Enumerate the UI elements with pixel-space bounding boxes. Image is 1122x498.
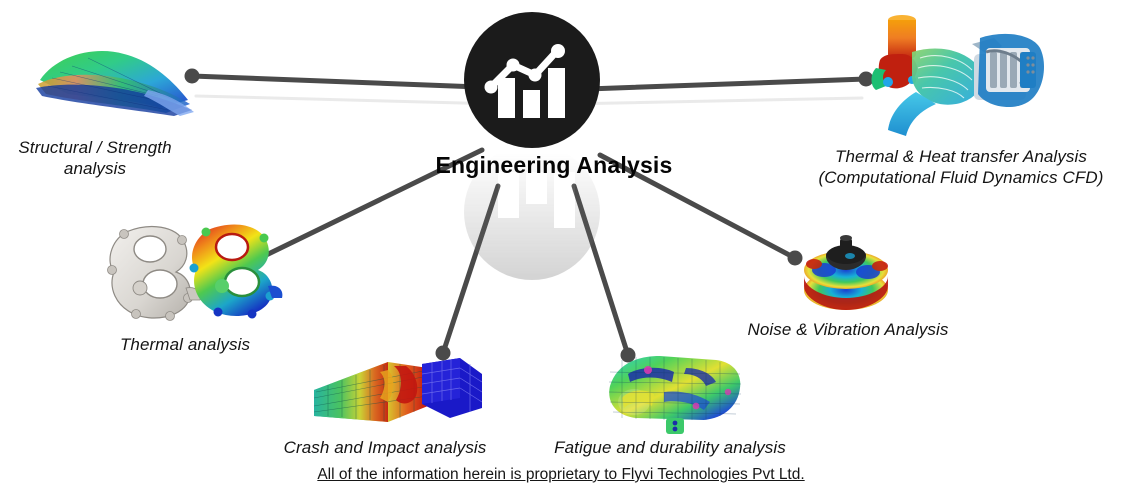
subframe-fatigue-thumbnail [600,348,750,434]
engineering-analysis-diagram: Engineering Analysis [0,0,1122,498]
spoke-gloss-right [566,98,862,104]
node-label-structural: Structural / Strength analysis [0,138,190,179]
node-label-thermal-heat-cfd: Thermal & Heat transfer Analysis (Comput… [800,147,1122,188]
spoke-line-structural [192,76,505,88]
hub[interactable] [464,12,608,156]
node-label-fatigue-durability: Fatigue and durability analysis [534,438,806,459]
node-label-noise-vibration: Noise & Vibration Analysis [734,320,962,341]
spoke-line-crash-impact [443,186,498,353]
brake-rotor-vibration-thumbnail [798,232,894,318]
proprietary-footer-text: All of the information herein is proprie… [317,466,804,483]
spoke-line-fatigue-durability [574,186,628,355]
node-label-thermal: Thermal analysis [98,335,272,356]
ship-hull-fea-thumbnail [28,28,198,120]
bar-chart-trendline-icon [482,32,582,128]
proprietary-footer-note: All of the information herein is proprie… [0,466,1122,484]
crush-beam-impact-thumbnail [310,354,486,430]
hub-title: Engineering Analysis [404,152,704,179]
spoke-gloss-left [196,96,500,104]
node-label-crash-impact: Crash and Impact analysis [268,438,502,459]
turbocharger-cfd-thumbnail [868,8,1048,144]
gearbox-housing-thermal-thumbnail [96,218,296,326]
